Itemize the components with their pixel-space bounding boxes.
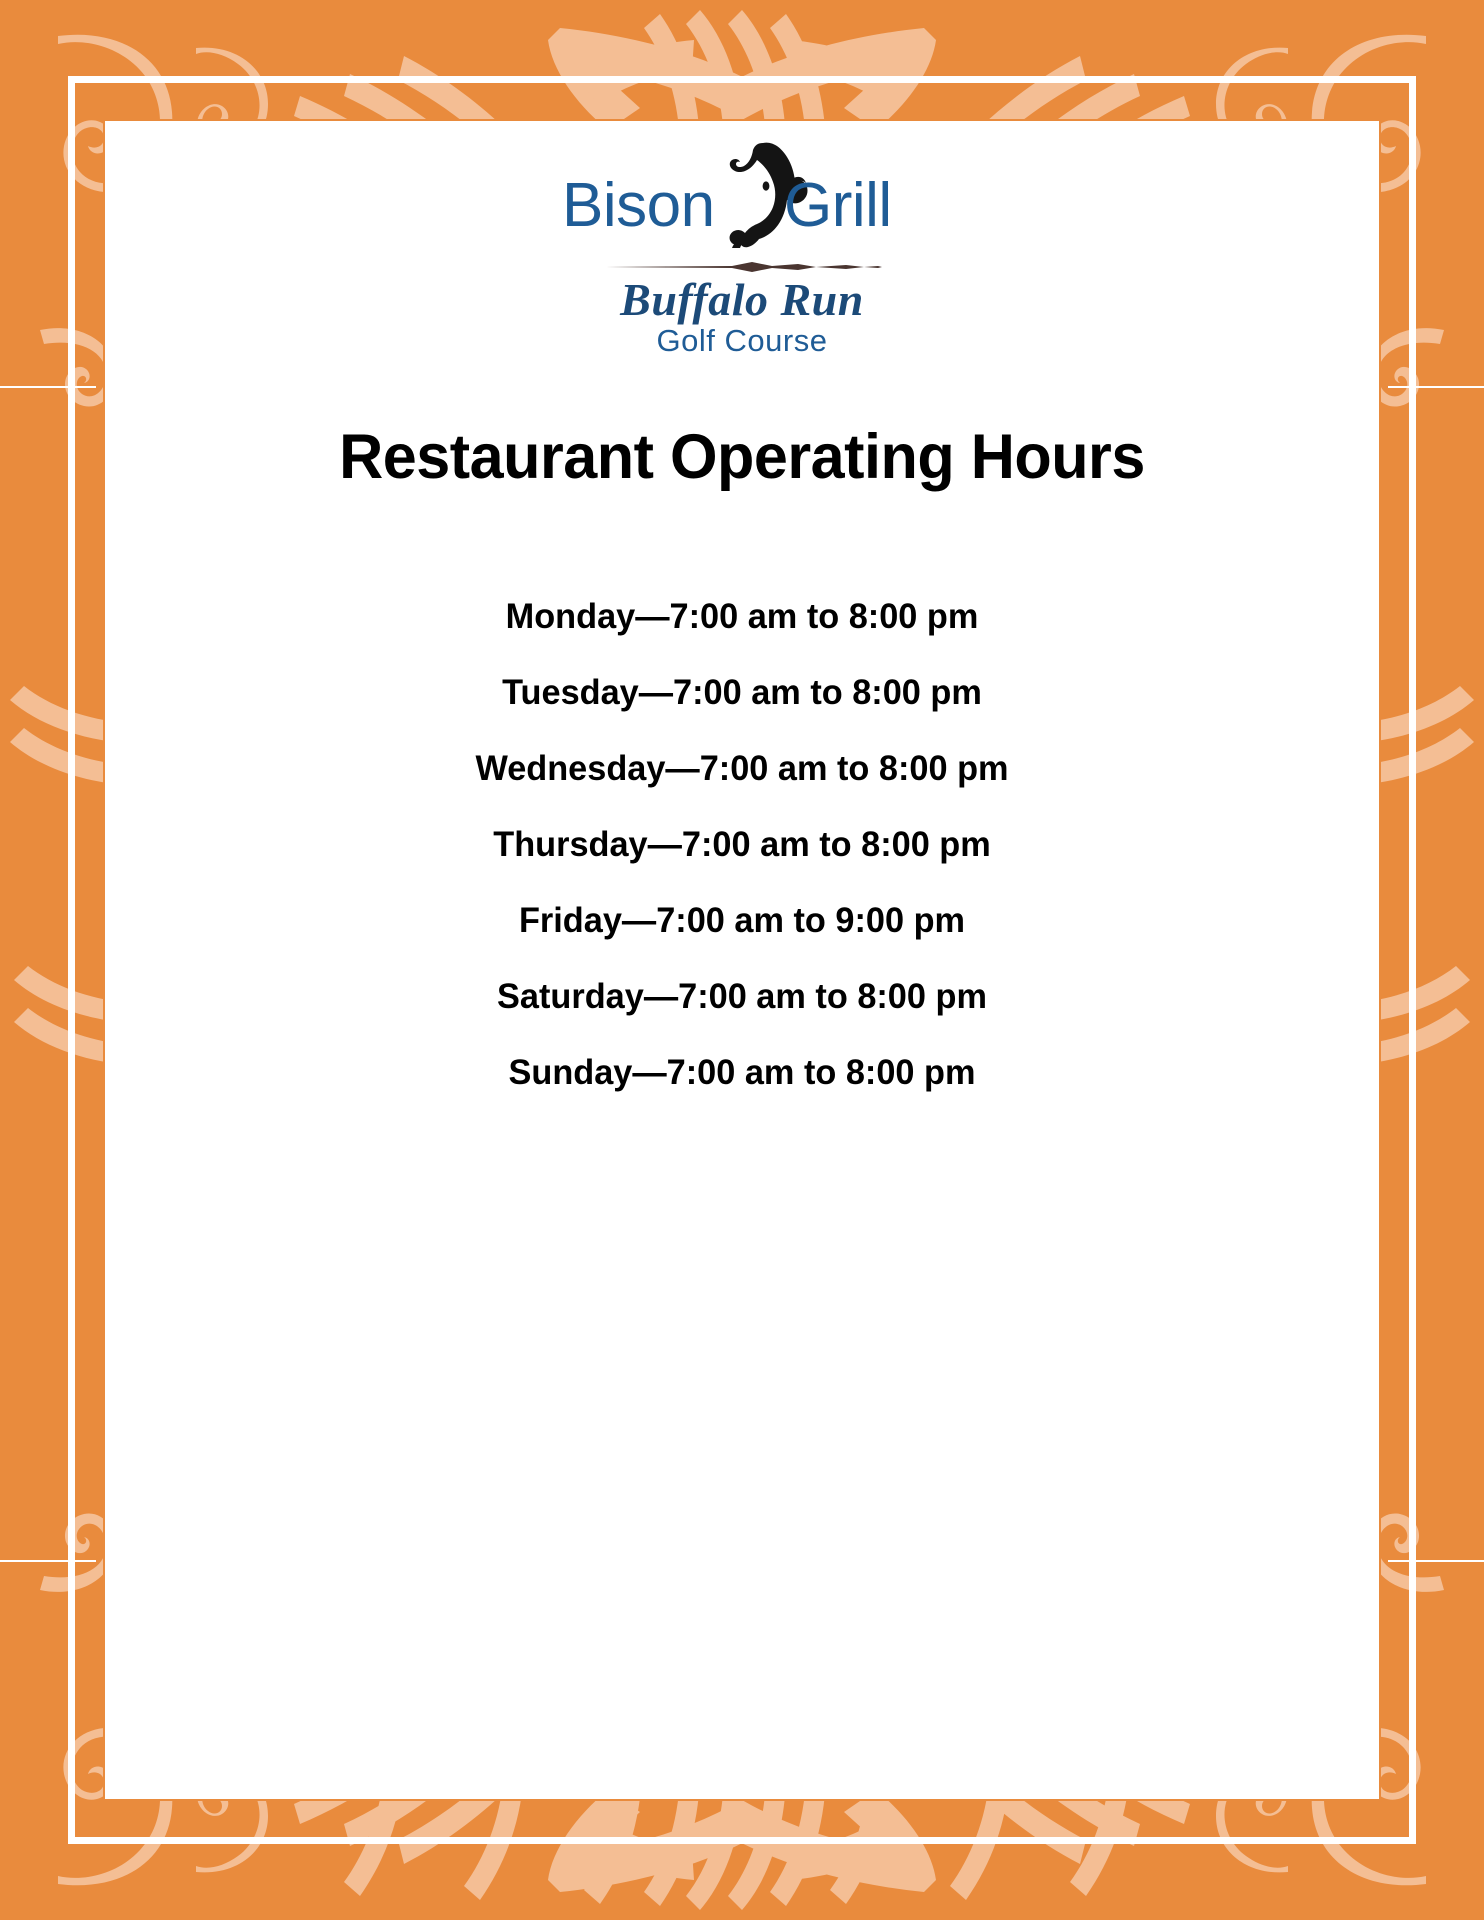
hours-row-sunday: Sunday—7:00 am to 8:00 pm bbox=[118, 1055, 1367, 1090]
logo-subtitle-golf-course: Golf Course bbox=[105, 325, 1379, 356]
hours-row-saturday: Saturday—7:00 am to 8:00 pm bbox=[118, 979, 1367, 1014]
hours-row-friday: Friday—7:00 am to 9:00 pm bbox=[118, 903, 1367, 938]
logo-word-bison: Bison bbox=[562, 175, 715, 237]
poster-page: Bison Grill bbox=[0, 0, 1484, 1920]
hours-row-wednesday: Wednesday—7:00 am to 8:00 pm bbox=[118, 751, 1367, 786]
operating-hours-list: Monday—7:00 am to 8:00 pm Tuesday—7:00 a… bbox=[105, 599, 1379, 1131]
hours-row-monday: Monday—7:00 am to 8:00 pm bbox=[118, 599, 1367, 634]
logo-wordmark: Bison Grill bbox=[562, 139, 922, 254]
logo-divider-ornament bbox=[602, 261, 882, 273]
logo-script-buffalo-run: Buffalo Run bbox=[105, 277, 1379, 323]
page-title: Restaurant Operating Hours bbox=[124, 421, 1360, 493]
hours-row-tuesday: Tuesday—7:00 am to 8:00 pm bbox=[118, 675, 1367, 710]
hours-row-thursday: Thursday—7:00 am to 8:00 pm bbox=[118, 827, 1367, 862]
bison-grill-logo: Bison Grill bbox=[105, 139, 1379, 356]
logo-word-grill: Grill bbox=[784, 175, 892, 237]
content-panel: Bison Grill bbox=[105, 121, 1379, 1799]
